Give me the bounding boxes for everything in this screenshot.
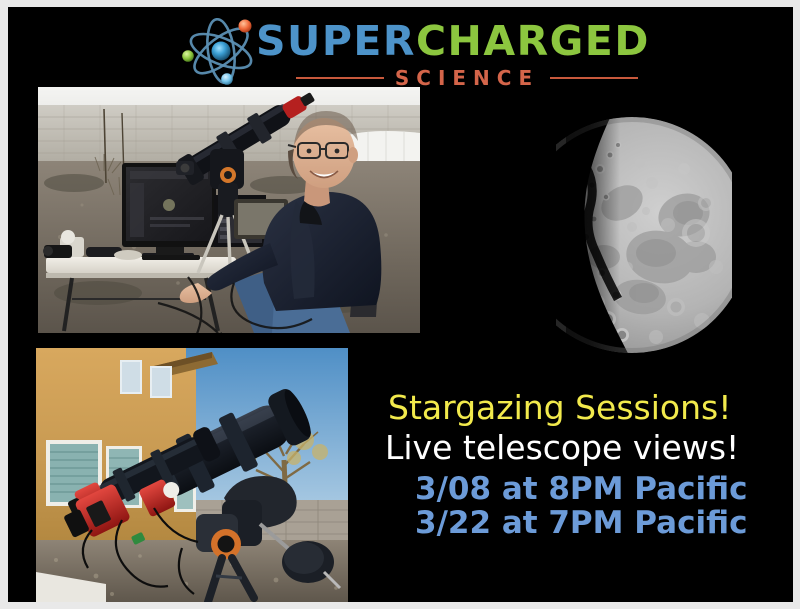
headline-block: Stargazing Sessions! Live telescope view… <box>380 391 780 540</box>
supercharged-science-logo: SUPERCHARGED SCIENCE <box>178 13 638 91</box>
headline-live-telescope-views: Live telescope views! <box>380 431 780 466</box>
session-date-1: 3/08 at 8PM Pacific <box>380 473 780 506</box>
moon-photo <box>556 107 732 363</box>
logo-rule-right <box>550 77 638 79</box>
logo-wordmark: SUPERCHARGED <box>256 21 650 62</box>
atom-electron-green <box>182 50 194 62</box>
atom-electron-orange <box>239 20 252 33</box>
poster-canvas: SUPERCHARGED SCIENCE <box>8 7 793 602</box>
logo-word-super: SUPER <box>256 17 416 65</box>
atom-electron-blue <box>221 73 233 85</box>
poster-root: SUPERCHARGED SCIENCE <box>0 0 800 609</box>
logo-rule-left <box>296 77 384 79</box>
telescope-rig-photo <box>36 348 348 602</box>
session-date-2: 3/22 at 7PM Pacific <box>380 507 780 540</box>
logo-word-charged: CHARGED <box>416 17 650 65</box>
atom-icon <box>178 15 264 87</box>
headline-stargazing-sessions: Stargazing Sessions! <box>380 391 780 426</box>
observer-with-telescope-photo <box>38 87 420 333</box>
logo-science-row: SCIENCE <box>296 67 638 89</box>
